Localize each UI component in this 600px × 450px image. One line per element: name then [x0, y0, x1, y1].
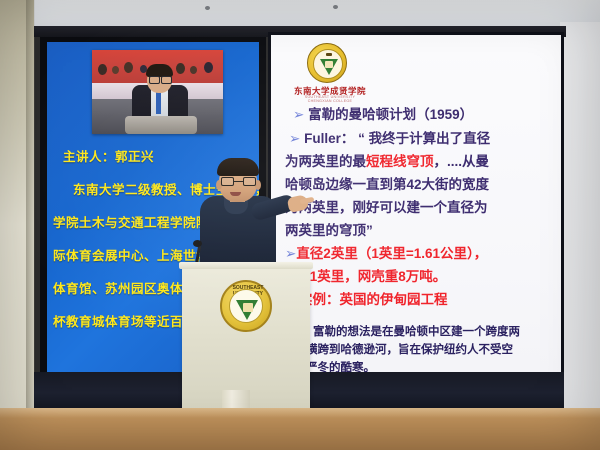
lecture-hall-scene: 主讲人：郭正兴 东南大学二级教授、博士生导师，东南大学 学院土木与交通工程学院院…	[0, 0, 600, 450]
right-slide-line-2-tail: ，....从曼	[434, 154, 490, 169]
speaker-hair	[217, 158, 259, 176]
right-slide-line-6: ➢直径2英里（1英里=1.61公里），	[271, 242, 561, 262]
right-slide-line-2-text: 为两英里的最	[285, 154, 366, 169]
podium-university-emblem-icon: SOUTHEAST UNIVERSITY	[220, 280, 272, 332]
podium: SOUTHEAST UNIVERSITY	[182, 266, 310, 408]
arrow-bullet-icon: ➢	[293, 107, 304, 122]
right-slide-line-7: 高1.1英里，网壳重8万吨。	[271, 265, 561, 285]
right-slide-highlight: 短程线穹顶	[366, 154, 434, 169]
right-slide-heading-text: 富勒的曼哈顿计划（1959）	[308, 107, 473, 122]
right-projection-screen: 东南大学成贤学院 SOUTHEAST UNIVERSITY CHENGXIAN …	[268, 32, 564, 382]
college-logo: 东南大学成贤学院 SOUTHEAST UNIVERSITY CHENGXIAN …	[293, 43, 367, 101]
right-wall	[560, 22, 600, 408]
podium-top-surface	[179, 262, 313, 269]
right-slide-line-2: 为两英里的最短程线穹顶，....从曼	[271, 150, 561, 170]
arrow-bullet-icon: ➢	[289, 131, 300, 146]
right-slide-line-1: ➢ Fuller： “ 我终于计算出了直径	[271, 127, 561, 147]
right-slide-line-6-text: 直径2英里（1英里=1.61公里），	[296, 246, 487, 261]
right-slide-paragraph-2: 纽约严冬的酷寒。	[271, 359, 561, 372]
right-slide-paragraph-1: 东河横跨到哈德逊河，旨在保护纽约人不受空	[271, 341, 561, 357]
microphone-head-icon	[193, 240, 202, 247]
right-slide-line-5: 两英里的穹顶”	[271, 219, 561, 239]
right-slide-line-4: 为两英里，刚好可以建一个直径为	[271, 196, 561, 216]
right-slide-line-1-text: Fuller： “ 我终于计算出了直径	[304, 131, 490, 146]
floor-sheen	[0, 408, 600, 418]
speaker-glasses-icon	[221, 177, 256, 186]
right-slide-paragraph-0: 富勒的想法是在曼哈顿中区建一个跨度两	[271, 323, 561, 339]
left-wall-edge	[26, 0, 35, 408]
university-emblem-icon	[307, 43, 347, 83]
arrow-bullet-icon: ➢	[285, 246, 296, 261]
right-slide: 东南大学成贤学院 SOUTHEAST UNIVERSITY CHENGXIAN …	[271, 35, 561, 372]
college-logo-subtitle: SOUTHEAST UNIVERSITY CHENGXIAN COLLEGE	[293, 95, 367, 103]
ceiling-light-icon	[205, 6, 210, 10]
right-slide-line-8: 实例：英国的伊甸园工程	[271, 288, 561, 308]
right-slide-heading: ➢ 富勒的曼哈顿计划（1959）	[271, 103, 561, 123]
right-slide-line-3: 哈顿岛边缘一直到第42大街的宽度	[271, 173, 561, 193]
ceiling-light-icon	[333, 5, 338, 9]
speaker-portrait-photo	[92, 50, 223, 134]
